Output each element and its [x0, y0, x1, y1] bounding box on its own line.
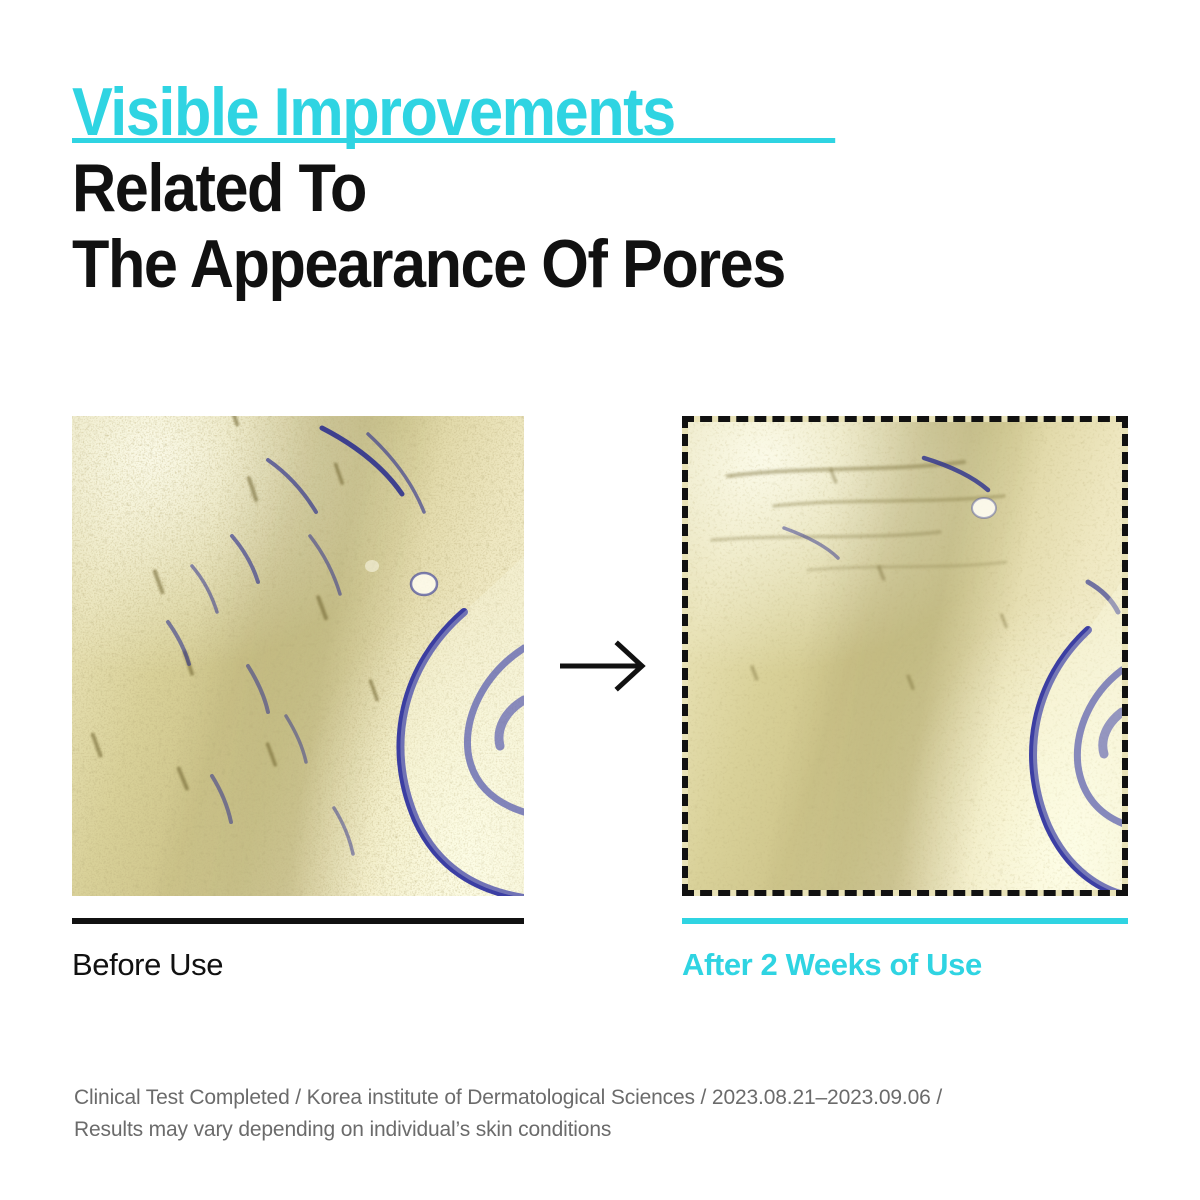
footnote-line-2: Results may vary depending on individual…: [74, 1114, 1074, 1146]
page-title: Visible Improvements Related To The Appe…: [72, 74, 1132, 302]
before-after-comparison: Before Use: [0, 416, 1200, 1016]
before-caption: Before Use: [72, 946, 223, 984]
after-panel: After 2 Weeks of Use: [682, 416, 1128, 896]
after-caption: After 2 Weeks of Use: [682, 946, 982, 984]
skin-pores-overlay: [72, 416, 524, 896]
before-image: [72, 416, 524, 896]
headline-line-2: Related To: [72, 150, 1026, 226]
promo-card: Visible Improvements Related To The Appe…: [0, 0, 1200, 1200]
after-image: [682, 416, 1128, 896]
footnote: Clinical Test Completed / Korea institut…: [74, 1082, 1074, 1146]
headline-line-1-wrap: Visible Improvements: [72, 74, 1132, 150]
before-rule: [72, 918, 524, 924]
after-rule: [682, 918, 1128, 924]
arrow-right-icon: [556, 638, 652, 694]
headline-underline: [72, 138, 835, 143]
before-panel: Before Use: [72, 416, 524, 896]
footnote-line-1: Clinical Test Completed / Korea institut…: [74, 1082, 1074, 1114]
skin-pores-overlay-after: [688, 422, 1122, 890]
headline-line-3: The Appearance Of Pores: [72, 226, 1026, 302]
